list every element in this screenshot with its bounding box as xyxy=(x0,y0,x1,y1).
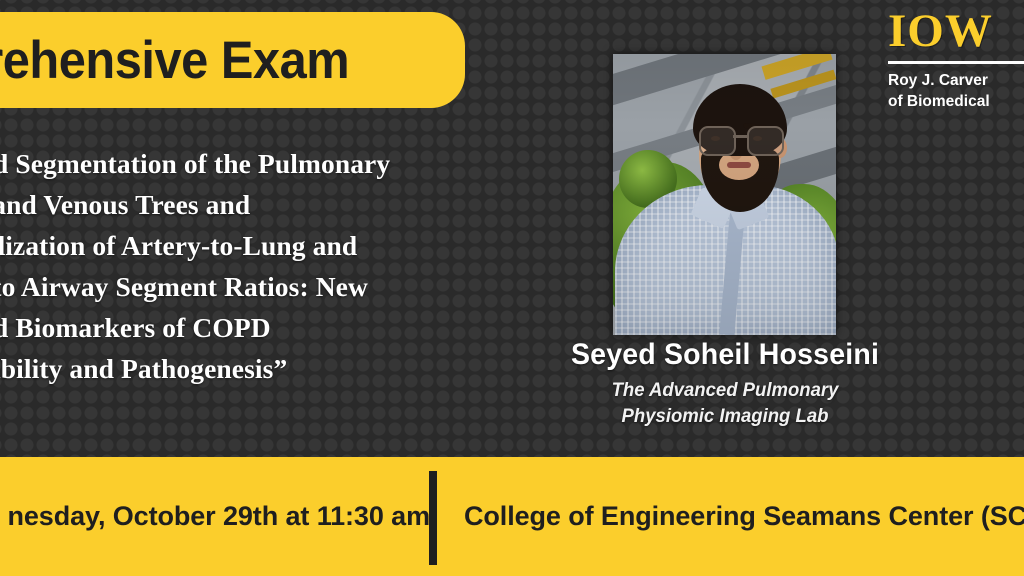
speaker-name: Seyed Soheil Hosseini xyxy=(568,338,882,372)
speaker-photo xyxy=(613,54,836,335)
speaker-lab-line: The Advanced Pulmonary xyxy=(568,377,882,403)
speaker-lab: The Advanced Pulmonary Physiomic Imaging… xyxy=(568,377,882,429)
footer-banner: nesday, October 29th at 11:30 am College… xyxy=(0,457,1024,576)
talk-title-line: lardization of Artery-to-Lung and xyxy=(0,225,556,266)
department-line: Roy J. Carver xyxy=(888,70,1024,91)
iowa-wordmark: IOW xyxy=(888,6,1024,56)
talk-title-line: ial and Venous Trees and xyxy=(0,184,556,225)
speaker-block: Seyed Soheil Hosseini The Advanced Pulmo… xyxy=(560,338,890,429)
talk-title-line: ial to Airway Segment Ratios: New xyxy=(0,266,556,307)
seminar-announcement-poster: mprehensive Exam ased Segmentation of th… xyxy=(0,0,1024,576)
logo-divider-rule xyxy=(888,61,1024,64)
header-banner-label: mprehensive Exam xyxy=(0,30,349,91)
department-line: of Biomedical xyxy=(888,91,1024,112)
event-datetime: nesday, October 29th at 11:30 am xyxy=(0,501,430,532)
photo-vignette xyxy=(613,54,836,335)
talk-title: ased Segmentation of the Pulmonary ial a… xyxy=(0,143,556,389)
portrait-image xyxy=(613,54,836,335)
speaker-lab-line: Physiomic Imaging Lab xyxy=(568,403,882,429)
footer-divider xyxy=(429,471,437,565)
talk-title-line: eptibility and Pathogenesis” xyxy=(0,348,556,389)
header-banner: mprehensive Exam xyxy=(0,12,465,108)
university-logo: IOW Roy J. Carver of Biomedical xyxy=(888,6,1024,112)
talk-title-line: ased Biomarkers of COPD xyxy=(0,307,556,348)
event-location: College of Engineering Seamans Center (S… xyxy=(464,501,1024,532)
talk-title-line: ased Segmentation of the Pulmonary xyxy=(0,143,556,184)
